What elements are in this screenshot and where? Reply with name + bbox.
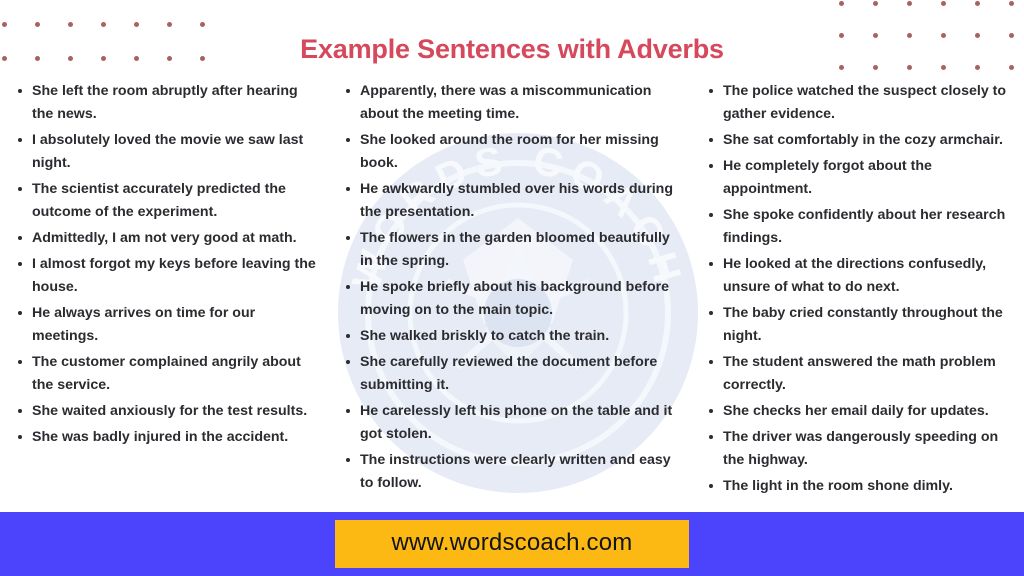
decorative-dot (2, 22, 7, 27)
sentence-item: He carelessly left his phone on the tabl… (342, 400, 685, 446)
decorative-dot (907, 65, 912, 70)
sentence-item: The instructions were clearly written an… (342, 449, 685, 495)
decorative-dot (975, 65, 980, 70)
sentence-item: The student answered the math problem co… (705, 351, 1020, 397)
sentence-item: Admittedly, I am not very good at math. (14, 227, 322, 250)
decorative-dot (873, 65, 878, 70)
sentence-item: She looked around the room for her missi… (342, 129, 685, 175)
decorative-dot (167, 22, 172, 27)
sentence-list-3: The police watched the suspect closely t… (705, 80, 1020, 498)
sentence-item: The scientist accurately predicted the o… (14, 178, 322, 224)
sentence-item: I absolutely loved the movie we saw last… (14, 129, 322, 175)
decorative-dot (101, 22, 106, 27)
decorative-dot (941, 65, 946, 70)
sentence-item: The police watched the suspect closely t… (705, 80, 1020, 126)
sentence-columns: She left the room abruptly after hearing… (0, 80, 1024, 505)
decorative-dot (839, 1, 844, 6)
sentence-item: He awkwardly stumbled over his words dur… (342, 178, 685, 224)
sentence-item: He completely forgot about the appointme… (705, 155, 1020, 201)
sentence-item: The customer complained angrily about th… (14, 351, 322, 397)
sentence-item: She walked briskly to catch the train. (342, 325, 685, 348)
sentence-list-2: Apparently, there was a miscommunication… (342, 80, 685, 495)
decorative-dot (907, 1, 912, 6)
sentence-item: He always arrives on time for our meetin… (14, 302, 322, 348)
sentence-item: She was badly injured in the accident. (14, 426, 322, 449)
sentence-item: The driver was dangerously speeding on t… (705, 426, 1020, 472)
decorative-dot (68, 22, 73, 27)
decorative-dot (200, 22, 205, 27)
decorative-dot (134, 22, 139, 27)
decorative-dot (873, 1, 878, 6)
poster-canvas: WORDS COACH Example Sentences with Adver… (0, 0, 1024, 576)
site-url-badge[interactable]: www.wordscoach.com (335, 520, 688, 567)
sentence-item: The baby cried constantly throughout the… (705, 302, 1020, 348)
sentence-item: Apparently, there was a miscommunication… (342, 80, 685, 126)
decorative-dot (1009, 65, 1014, 70)
sentence-item: The light in the room shone dimly. (705, 475, 1020, 498)
decorative-dot (839, 65, 844, 70)
sentence-item: He spoke briefly about his background be… (342, 276, 685, 322)
sentence-item: She waited anxiously for the test result… (14, 400, 322, 423)
sentence-item: He looked at the directions confusedly, … (705, 253, 1020, 299)
sentence-item: She sat comfortably in the cozy armchair… (705, 129, 1020, 152)
sentence-column-1: She left the room abruptly after hearing… (0, 80, 328, 452)
decorative-dot (1009, 1, 1014, 6)
decorative-dot (941, 1, 946, 6)
sentence-item: She carefully reviewed the document befo… (342, 351, 685, 397)
decorative-dot (35, 22, 40, 27)
page-title: Example Sentences with Adverbs (0, 34, 1024, 65)
sentence-item: The flowers in the garden bloomed beauti… (342, 227, 685, 273)
footer-bar: www.wordscoach.com (0, 512, 1024, 576)
sentence-item: She checks her email daily for updates. (705, 400, 1020, 423)
decorative-dot (975, 1, 980, 6)
sentence-item: I almost forgot my keys before leaving t… (14, 253, 322, 299)
sentence-item: She spoke confidently about her research… (705, 204, 1020, 250)
sentence-list-1: She left the room abruptly after hearing… (14, 80, 322, 449)
sentence-column-3: The police watched the suspect closely t… (691, 80, 1024, 501)
sentence-item: She left the room abruptly after hearing… (14, 80, 322, 126)
sentence-column-2: Apparently, there was a miscommunication… (328, 80, 691, 498)
